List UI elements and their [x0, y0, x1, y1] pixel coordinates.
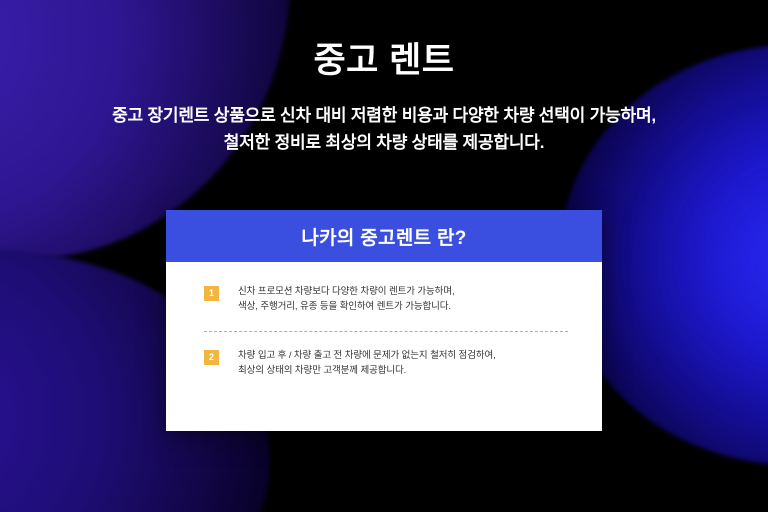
list-item-text-line-2: 색상, 주행거리, 유종 등을 확인하여 렌트가 가능합니다.: [238, 299, 455, 314]
list-item-text-line-1: 차량 입고 후 / 차량 출고 전 차량에 문제가 없는지 철저히 점검하여,: [238, 348, 496, 363]
hero-subtitle: 중고 장기렌트 상품으로 신차 대비 저렴한 비용과 다양한 차량 선택이 가능…: [0, 102, 768, 157]
list-item-text-line-2: 최상의 상태의 차량만 고객분께 제공합니다.: [238, 363, 496, 378]
list-divider: [204, 331, 568, 332]
list-item-text-line-1: 신차 프로모션 차량보다 다양한 차량이 렌트가 가능하며,: [238, 284, 455, 299]
list-item-number-badge: 2: [204, 350, 219, 365]
list-item-number-badge: 1: [204, 286, 219, 301]
info-card-body: 1 신차 프로모션 차량보다 다양한 차량이 렌트가 가능하며, 색상, 주행거…: [166, 262, 602, 431]
page-title: 중고 렌트: [0, 42, 768, 81]
list-item: 1 신차 프로모션 차량보다 다양한 차량이 렌트가 가능하며, 색상, 주행거…: [204, 284, 568, 315]
info-card-title: 나카의 중고렌트 란?: [301, 223, 466, 250]
page-stage: 중고 렌트 중고 장기렌트 상품으로 신차 대비 저렴한 비용과 다양한 차량 …: [0, 0, 768, 512]
list-item: 2 차량 입고 후 / 차량 출고 전 차량에 문제가 없는지 철저히 점검하여…: [204, 348, 568, 379]
info-card-header: 나카의 중고렌트 란?: [166, 210, 602, 262]
info-card: 나카의 중고렌트 란? 1 신차 프로모션 차량보다 다양한 차량이 렌트가 가…: [166, 210, 602, 431]
hero-section: 중고 렌트 중고 장기렌트 상품으로 신차 대비 저렴한 비용과 다양한 차량 …: [0, 0, 768, 157]
list-item-text: 차량 입고 후 / 차량 출고 전 차량에 문제가 없는지 철저히 점검하여, …: [238, 348, 496, 379]
list-item-text: 신차 프로모션 차량보다 다양한 차량이 렌트가 가능하며, 색상, 주행거리,…: [238, 284, 455, 315]
hero-subtitle-line-1: 중고 장기렌트 상품으로 신차 대비 저렴한 비용과 다양한 차량 선택이 가능…: [0, 102, 768, 130]
hero-subtitle-line-2: 철저한 정비로 최상의 차량 상태를 제공합니다.: [0, 129, 768, 157]
